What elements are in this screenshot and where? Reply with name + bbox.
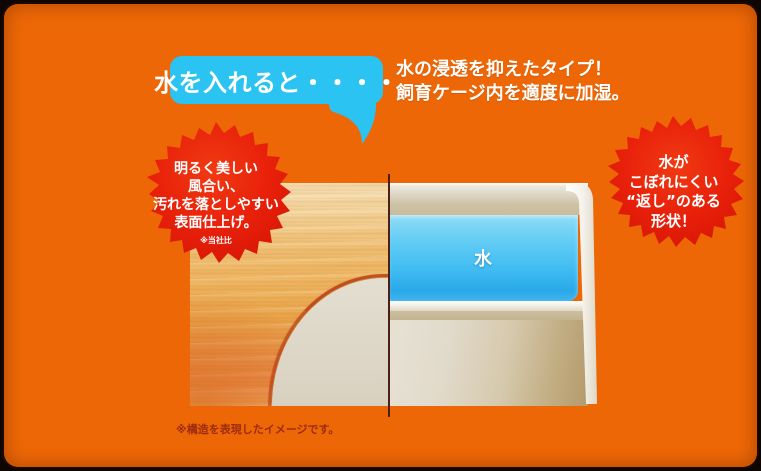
tray-back-wall (388, 185, 586, 215)
tray-lower-lip (388, 311, 586, 320)
footnote: ※構造を表現したイメージです。 (176, 421, 339, 437)
tray-base (388, 320, 588, 406)
speech-bubble-tail (329, 100, 377, 146)
orange-panel: 水 (4, 4, 757, 467)
promo-graphic: 水 (0, 0, 761, 471)
headline-line-1: 水の浸透を抑えたタイプ！ (396, 58, 696, 82)
starburst-right: 水が こぼれにくい “返し”のある 形状！ (582, 116, 757, 268)
speech-bubble: 水を入れると・・・・ (170, 56, 383, 104)
starburst-left: 明るく美しい 風合い、 汚れを落としやすい 表面仕上げ。 ※当社比 (114, 122, 318, 288)
tray-water-shelf (388, 301, 586, 311)
headline-line-2: 飼育ケージ内を適度に加湿。 (396, 82, 696, 106)
tray-cross-section: 水 (388, 183, 598, 406)
section-divider-line (388, 174, 390, 417)
headline-copy: 水の浸透を抑えたタイプ！ 飼育ケージ内を適度に加湿。 (396, 58, 696, 107)
speech-bubble-text: 水を入れると・・・・ (154, 63, 399, 98)
tray-top-rim (388, 183, 588, 187)
water-label: 水 (388, 215, 578, 301)
